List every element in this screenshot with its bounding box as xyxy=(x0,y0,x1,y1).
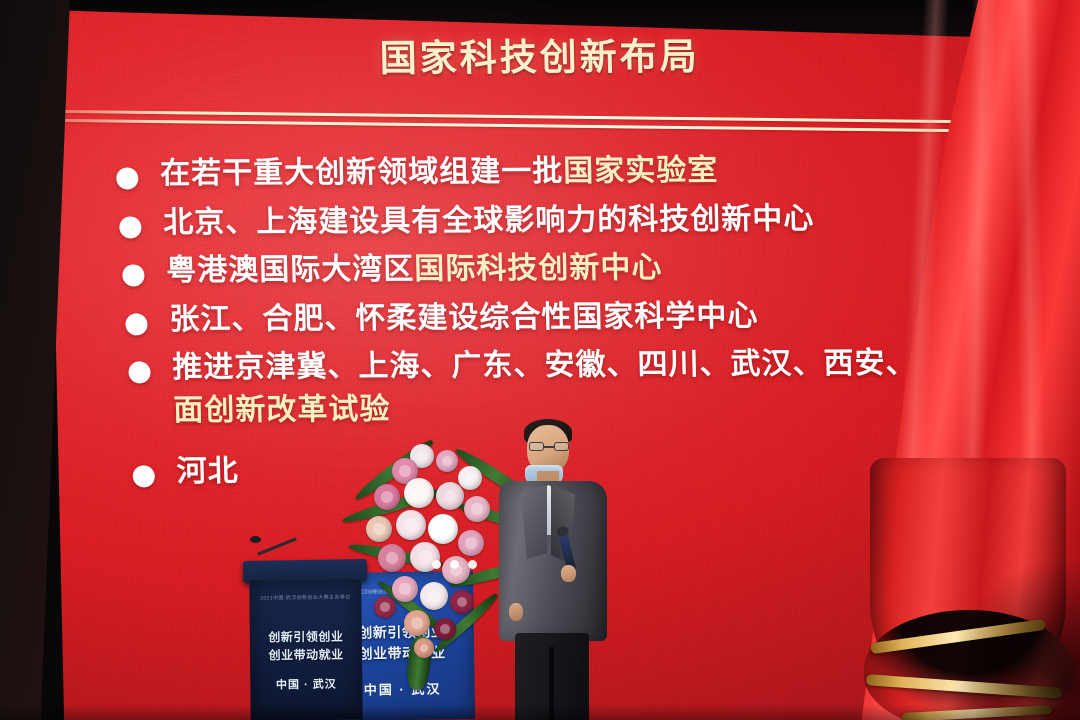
lectern-small-text: 2021中国·武汉创新创业大赛主办单位 xyxy=(257,594,353,602)
lectern-slogan-line2: 创业带动就业 xyxy=(250,645,362,664)
lectern-microphone-head xyxy=(250,536,261,543)
lectern-banner: 2021中国·武汉创新创业大赛主办单位 创新引领创业 创业带动就业 中国 · 武… xyxy=(249,579,362,720)
glasses-icon xyxy=(529,442,569,451)
stage-scene: 国家科技创新布局 在若干重大创新领域组建一批国家实验室 北京、上海建设具有全球影… xyxy=(0,0,1080,720)
lectern-slogan-line1: 创新引领创业 xyxy=(250,627,362,646)
obscured-text-ellipsis xyxy=(432,558,502,570)
speaker-trousers xyxy=(515,633,589,720)
speaker-hand-right xyxy=(561,565,576,582)
speaker-hand-left xyxy=(509,603,523,621)
lectern-slogan: 创新引领创业 创业带动就业 xyxy=(250,627,362,664)
speaker-person xyxy=(485,415,625,720)
lectern-city: 中国 · 武汉 xyxy=(250,675,362,692)
stage-foreground: 2021中国·武汉创新创业大赛组委会 创新引领创业 创业带动就业 中国 · 武汉… xyxy=(0,0,1080,720)
lectern-microphone-boom xyxy=(257,537,297,556)
